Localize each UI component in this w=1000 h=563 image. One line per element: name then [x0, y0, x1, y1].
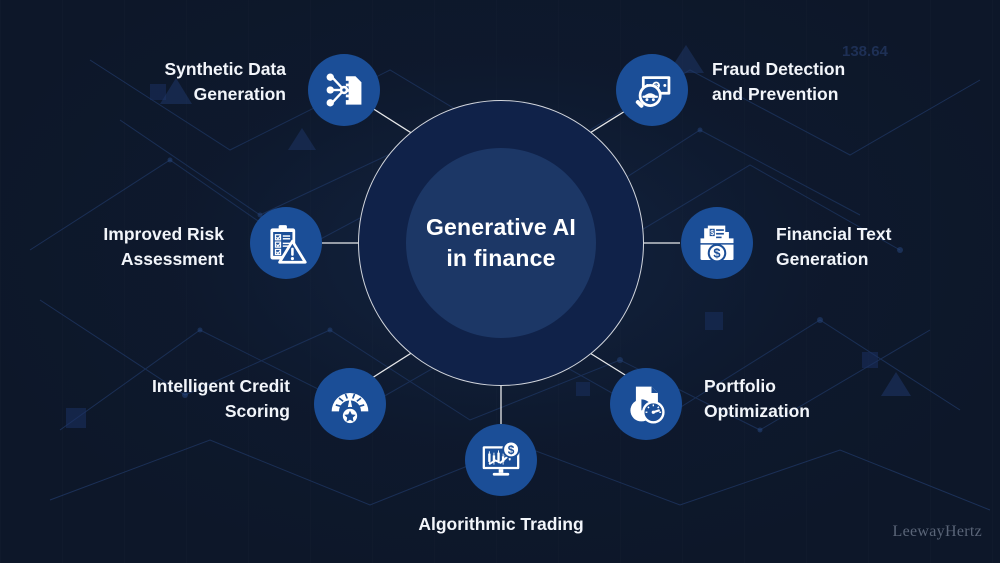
monitor-candlestick-dollar-icon: $ [479, 438, 523, 482]
node-synthetic-data-generation[interactable] [308, 54, 380, 126]
hub-center: Generative AIin finance [406, 148, 596, 338]
hub-title-line1: Generative AI [426, 214, 576, 240]
magnifier-banknote-icon: $ [630, 68, 674, 112]
watermark: LeewayHertz [893, 523, 982, 541]
label-fraud-detection-and-prevention: Fraud Detection and Prevention [712, 57, 942, 107]
infographic-canvas: 138.64 Generative AIin finance [0, 0, 1000, 563]
node-intelligent-credit-scoring[interactable] [314, 368, 386, 440]
label-improved-risk-assessment: Improved Risk Assessment [44, 222, 224, 272]
label-synthetic-data-generation: Synthetic Data Generation [84, 57, 286, 107]
document-piechart-gauge-icon [624, 382, 668, 426]
label-algorithmic-trading: Algorithmic Trading [366, 512, 636, 537]
label-financial-text-generation: Financial Text Generation [776, 222, 976, 272]
node-algorithmic-trading[interactable]: $ [465, 424, 537, 496]
label-intelligent-credit-scoring: Intelligent Credit Scoring [88, 374, 290, 424]
node-improved-risk-assessment[interactable] [250, 207, 322, 279]
svg-text:$: $ [508, 443, 515, 457]
label-portfolio-optimization: Portfolio Optimization [704, 374, 914, 424]
node-portfolio-optimization[interactable] [610, 368, 682, 440]
svg-text:$: $ [713, 246, 720, 261]
clipboard-warning-icon [264, 221, 308, 265]
hub-title: Generative AIin finance [426, 212, 576, 273]
gauge-star-icon [328, 382, 372, 426]
folder-dollar-document-icon: $ $ [695, 221, 739, 265]
node-fraud-detection-and-prevention[interactable]: $ [616, 54, 688, 126]
hub-title-line2: in finance [446, 245, 555, 271]
svg-text:$: $ [710, 230, 714, 237]
network-document-icon [322, 68, 366, 112]
node-financial-text-generation[interactable]: $ $ [681, 207, 753, 279]
